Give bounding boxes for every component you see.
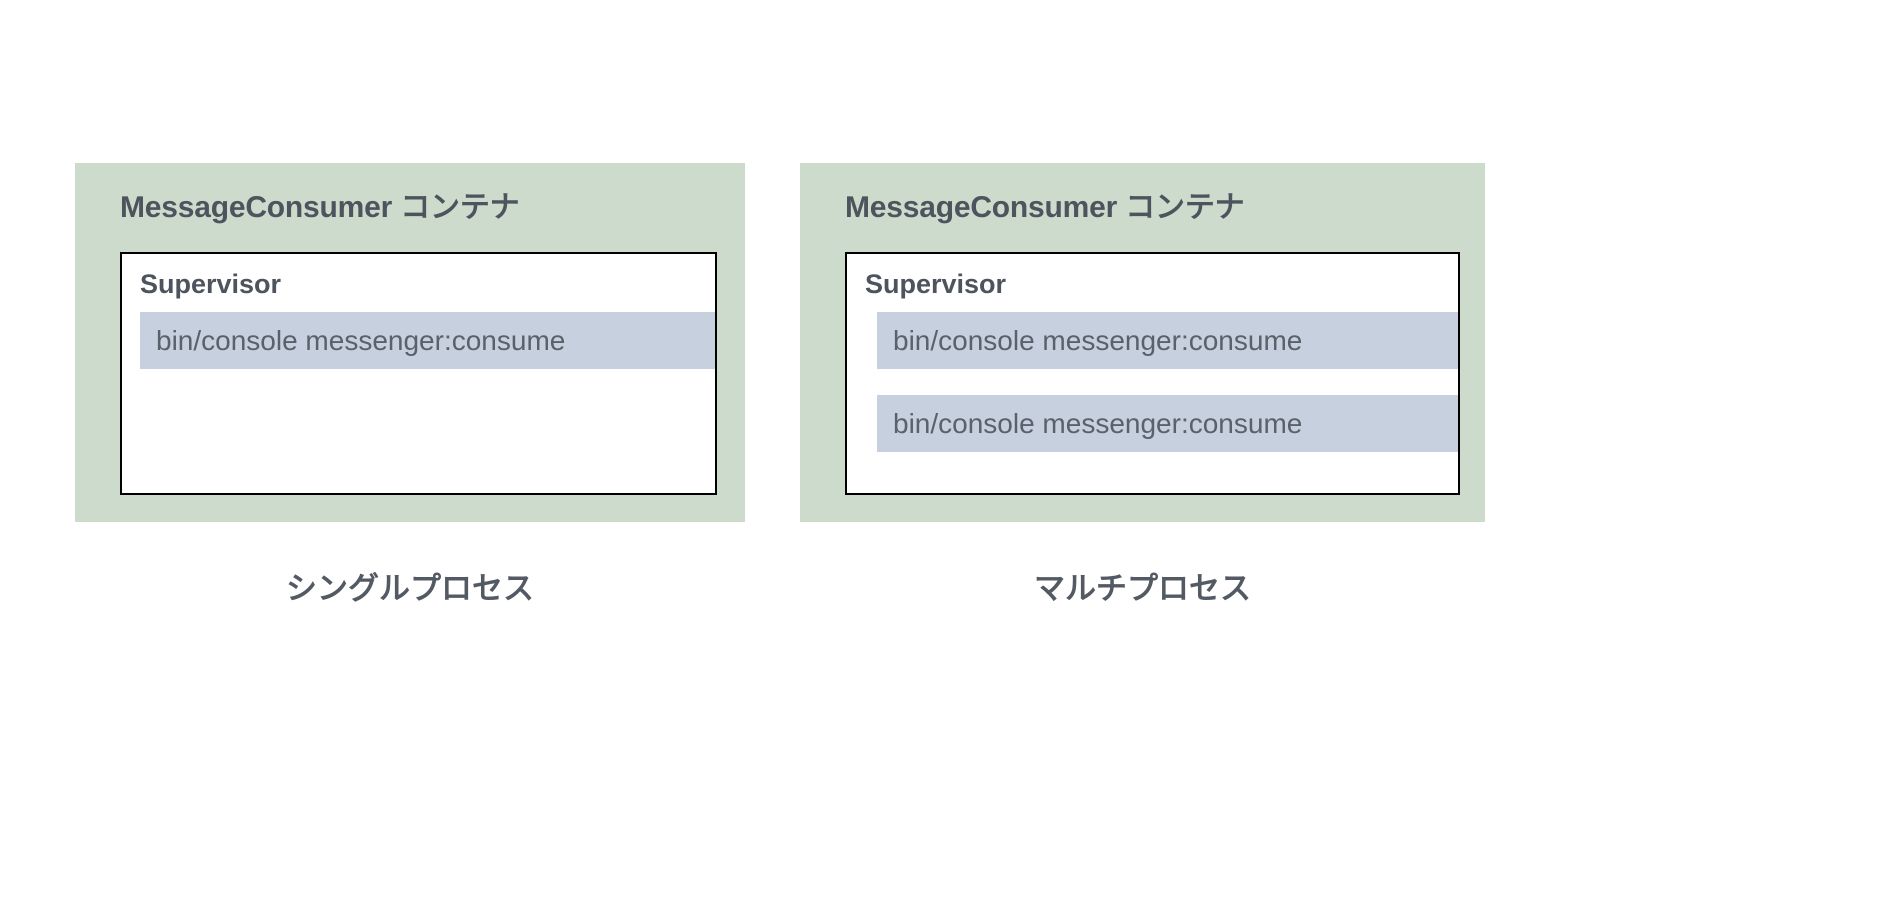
container-title-multi: MessageConsumer コンテナ [845, 193, 1453, 223]
panel-multi-process: MessageConsumer コンテナ Supervisor bin/cons… [800, 163, 1485, 604]
diagram-root: MessageConsumer コンテナ Supervisor bin/cons… [0, 0, 1890, 920]
supervisor-title-multi: Supervisor [865, 271, 1458, 298]
panel-caption-multi: マルチプロセス [800, 573, 1485, 604]
panel-caption-single: シングルプロセス [75, 573, 745, 604]
supervisor-box-single: Supervisor bin/console messenger:consume [120, 252, 717, 495]
container-title-single: MessageConsumer コンテナ [120, 193, 713, 223]
command-row: bin/console messenger:consume [140, 312, 717, 369]
message-consumer-container-single: MessageConsumer コンテナ Supervisor bin/cons… [75, 163, 745, 522]
command-list-multi: bin/console messenger:consume bin/consol… [865, 312, 1458, 452]
supervisor-title-single: Supervisor [140, 271, 715, 298]
command-row: bin/console messenger:consume [877, 395, 1460, 452]
panel-single-process: MessageConsumer コンテナ Supervisor bin/cons… [75, 163, 745, 604]
supervisor-box-multi: Supervisor bin/console messenger:consume… [845, 252, 1460, 495]
command-list-single: bin/console messenger:consume [140, 312, 715, 369]
message-consumer-container-multi: MessageConsumer コンテナ Supervisor bin/cons… [800, 163, 1485, 522]
command-row: bin/console messenger:consume [877, 312, 1460, 369]
